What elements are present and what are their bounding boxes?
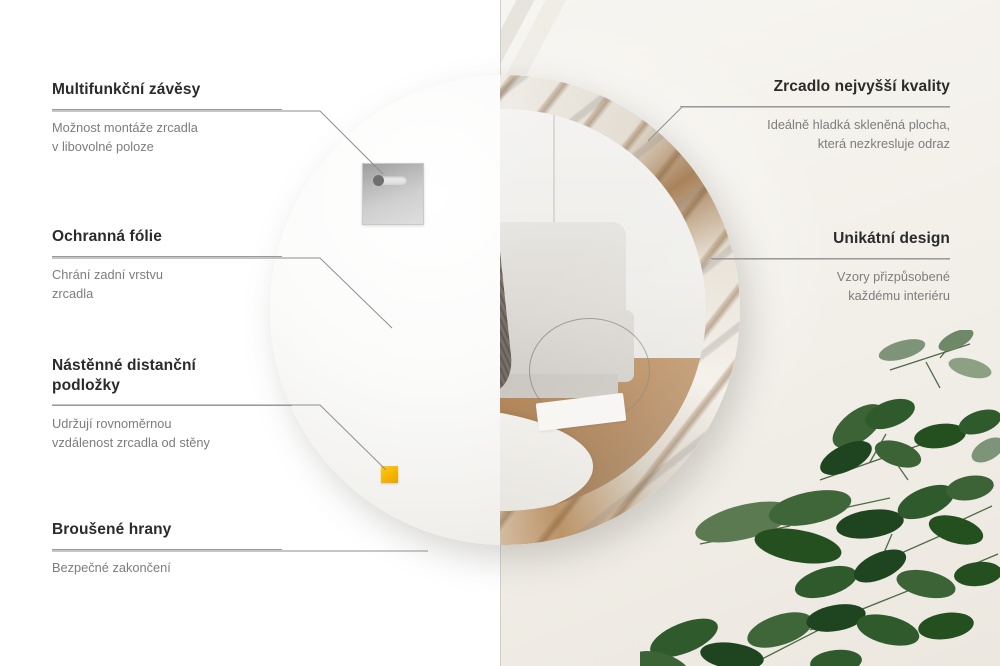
callout-title-line-1: Nástěnné distanční	[52, 357, 196, 374]
callout-desc-line-1: Ideálně hladká skleněná plocha,	[767, 117, 950, 132]
callout-title: Zrcadlo nejvyšší kvality	[680, 77, 950, 97]
callout-description: Chrání zadní vrstvu zrcadla	[52, 266, 282, 304]
callout-desc-line-2: která nezkresluje odraz	[818, 136, 950, 151]
callout-title: Multifunkční závěsy	[52, 80, 282, 100]
callout-unikatni-design: Unikátní design Vzory přizpůsobené každé…	[710, 229, 950, 306]
callout-desc-line-2: v libovolné poloze	[52, 139, 154, 154]
callout-desc-line-1: Bezpečné zakončení	[52, 560, 171, 575]
infographic-canvas: Multifunkční závěsy Možnost montáže zrca…	[0, 0, 1000, 666]
hanger-plate-icon	[362, 163, 424, 225]
callout-rule	[52, 109, 282, 110]
callout-title: Broušené hrany	[52, 520, 282, 540]
hanger-keyhole-slot	[377, 176, 407, 185]
callout-rule	[680, 106, 950, 107]
callout-zrcadlo-nejvyssi-kvality: Zrcadlo nejvyšší kvality Ideálně hladká …	[680, 77, 950, 154]
callout-desc-line-2: zrcadla	[52, 286, 93, 301]
callout-desc-line-2: vzdálenost zrcadla od stěny	[52, 435, 210, 450]
callout-title: Ochranná fólie	[52, 227, 282, 247]
callout-description: Možnost montáže zrcadla v libovolné polo…	[52, 119, 282, 157]
callout-rule	[52, 549, 282, 550]
callout-rule	[52, 405, 292, 406]
callout-title: Unikátní design	[710, 229, 950, 249]
callout-rule	[52, 256, 282, 257]
callout-description: Ideálně hladká skleněná plocha, která ne…	[680, 116, 950, 154]
callout-description: Bezpečné zakončení	[52, 559, 282, 578]
callout-desc-line-1: Chrání zadní vrstvu	[52, 267, 163, 282]
callout-desc-line-1: Vzory přizpůsobené	[837, 269, 950, 284]
callout-multifunkcni-zavesy: Multifunkční závěsy Možnost montáže zrca…	[52, 80, 282, 157]
callout-title-line-2: podložky	[52, 377, 120, 394]
wall-spacer-pad-icon	[381, 466, 398, 483]
callout-brousene-hrany: Broušené hrany Bezpečné zakončení	[52, 520, 282, 578]
callout-rule	[710, 258, 950, 259]
callout-ochranna-folie: Ochranná fólie Chrání zadní vrstvu zrcad…	[52, 227, 282, 304]
callout-description: Udržují rovnoměrnou vzdálenost zrcadla o…	[52, 415, 292, 453]
callout-desc-line-1: Udržují rovnoměrnou	[52, 416, 172, 431]
callout-title: Nástěnné distanční podložky	[52, 356, 292, 396]
callout-description: Vzory přizpůsobené každému interiéru	[710, 268, 950, 306]
callout-nastenne-distancni-podlozky: Nástěnné distanční podložky Udržují rovn…	[52, 356, 292, 453]
round-mirror	[270, 75, 740, 545]
callout-desc-line-2: každému interiéru	[848, 288, 950, 303]
callout-desc-line-1: Možnost montáže zrcadla	[52, 120, 198, 135]
